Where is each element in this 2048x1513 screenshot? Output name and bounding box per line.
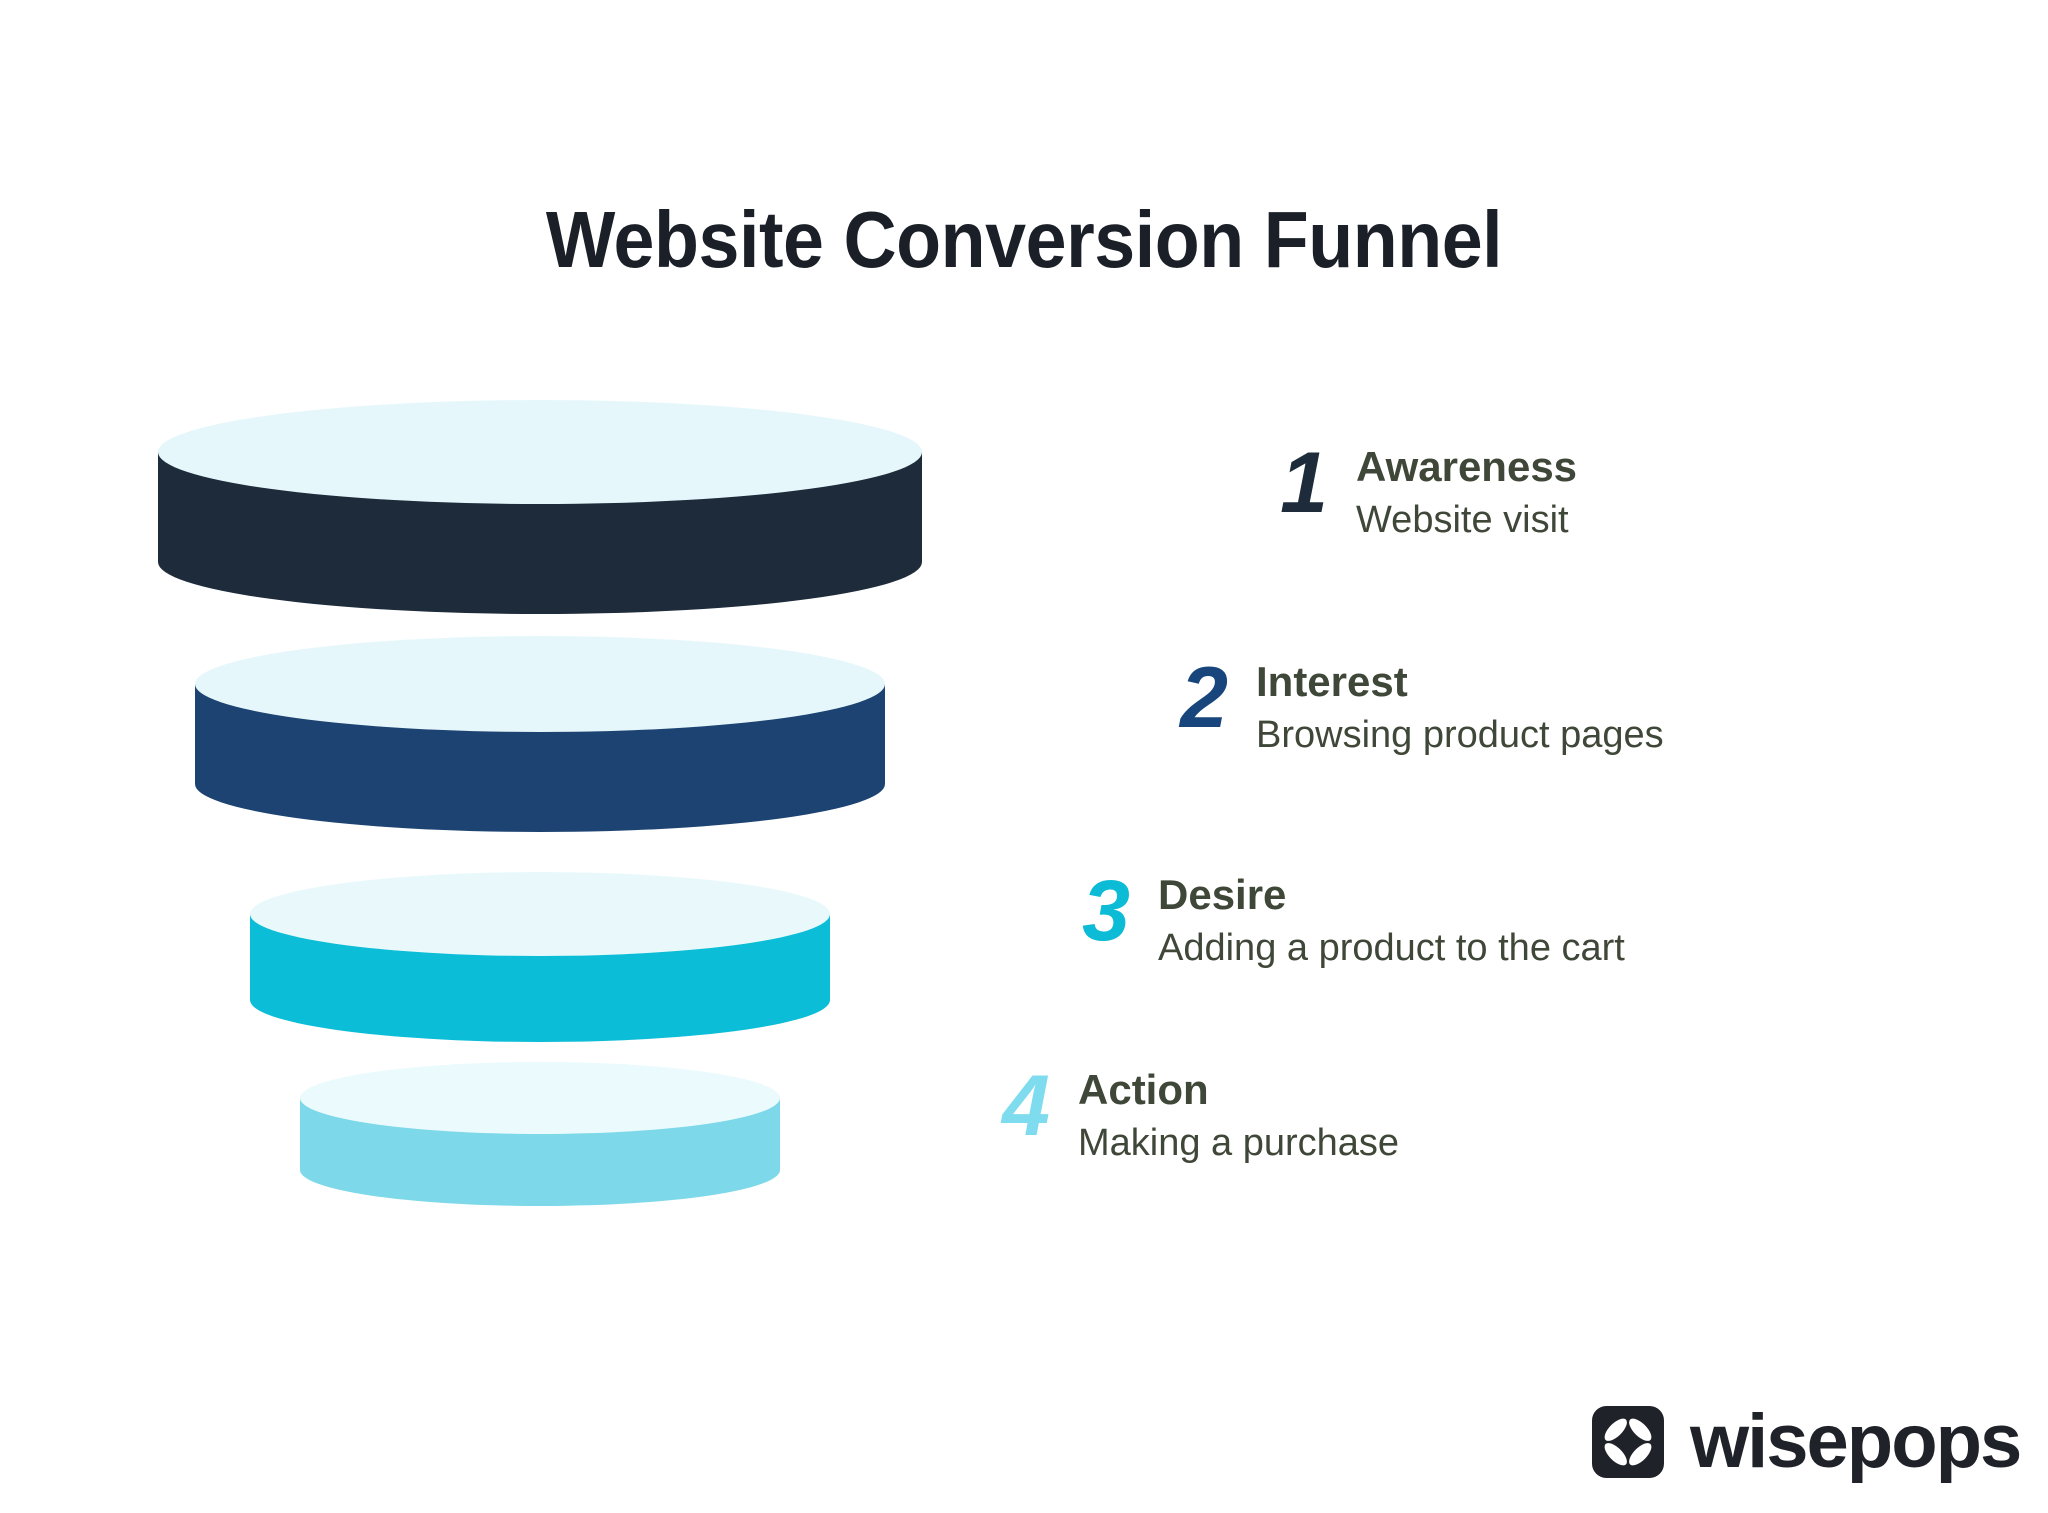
funnel-legend: 1 Awareness Website visit 2 Interest Bro… [1060,0,2048,1513]
wisepops-logo[interactable]: wisepops [1592,1404,2020,1480]
legend-text-group-4: Action Making a purchase [1078,1063,1399,1171]
legend-subtitle-1: Website visit [1356,492,1577,548]
legend-number-4: 4 [970,1063,1048,1149]
legend-number-3: 3 [1050,868,1128,954]
legend-text-group-3: Desire Adding a product to the cart [1158,868,1625,976]
legend-number-1: 1 [1256,440,1326,526]
wisepops-wordmark: wisepops [1690,1404,2020,1480]
funnel-stage-awareness [158,400,922,645]
legend-title-3: Desire [1158,870,1625,920]
funnel-stage-interest [195,636,885,861]
legend-item-action: 4 Action Making a purchase [970,1063,1399,1171]
funnel-chart [0,0,1060,1513]
legend-item-interest: 2 Interest Browsing product pages [1148,655,1664,763]
funnel-stage-action [300,1062,780,1232]
legend-number-2: 2 [1148,655,1226,741]
legend-title-1: Awareness [1356,442,1577,492]
legend-title-2: Interest [1256,657,1664,707]
funnel-stage-2-shape [195,636,885,861]
legend-subtitle-4: Making a purchase [1078,1115,1399,1171]
legend-item-desire: 3 Desire Adding a product to the cart [1050,868,1625,976]
legend-text-group-2: Interest Browsing product pages [1256,655,1664,763]
legend-subtitle-2: Browsing product pages [1256,707,1664,763]
infographic-canvas: Website Conversion Funnel [0,0,2048,1513]
legend-text-group-1: Awareness Website visit [1356,440,1577,548]
funnel-stage-4-shape [300,1062,780,1232]
legend-item-awareness: 1 Awareness Website visit [1256,440,1577,548]
funnel-stage-desire [250,872,830,1072]
funnel-stage-1-shape [158,400,922,645]
funnel-stage-3-shape [250,872,830,1072]
legend-title-4: Action [1078,1065,1399,1115]
legend-subtitle-3: Adding a product to the cart [1158,920,1625,976]
wisepops-butterfly-mark-icon [1592,1406,1664,1478]
